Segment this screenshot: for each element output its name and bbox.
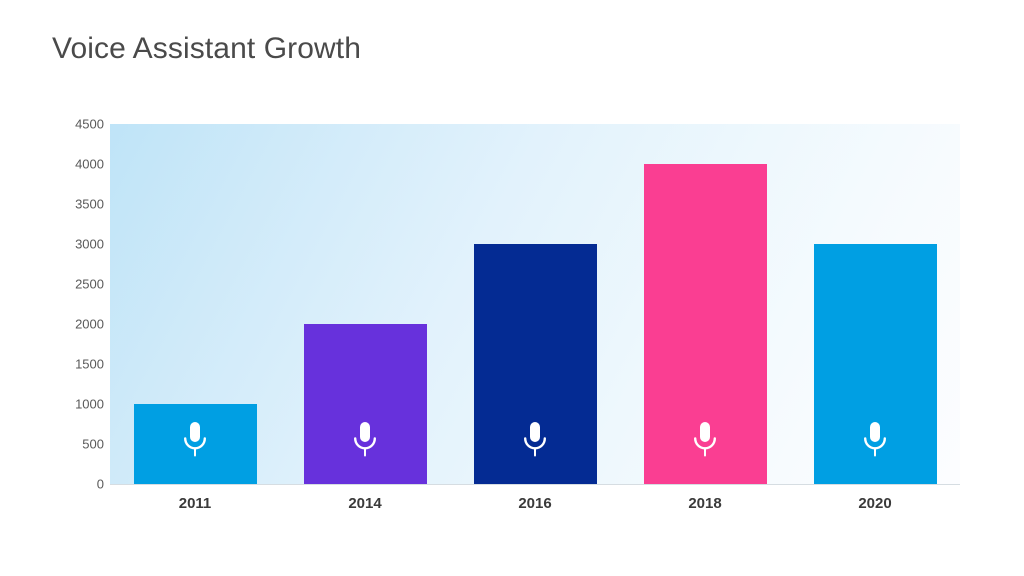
- y-axis-tick-label: 2000: [0, 317, 104, 332]
- y-axis-tick-label: 4500: [0, 117, 104, 132]
- bars-layer: [110, 124, 960, 484]
- bar-2018[interactable]: [644, 164, 767, 484]
- y-axis-tick-label: 4000: [0, 157, 104, 172]
- y-axis-tick-label: 2500: [0, 277, 104, 292]
- x-axis-tick-label-2018: 2018: [688, 495, 721, 512]
- x-axis-tick-label-2014: 2014: [348, 495, 381, 512]
- y-axis-tick-label: 500: [0, 437, 104, 452]
- bar-2011[interactable]: [134, 404, 257, 484]
- microphone-icon: [862, 420, 888, 464]
- bar-2020[interactable]: [814, 244, 937, 484]
- y-axis-tick-label: 3000: [0, 237, 104, 252]
- y-axis-tick-label: 1000: [0, 397, 104, 412]
- bar-2014[interactable]: [304, 324, 427, 484]
- y-axis-tick-label: 3500: [0, 197, 104, 212]
- microphone-icon: [692, 420, 718, 464]
- page-title: Voice Assistant Growth: [52, 32, 361, 66]
- bar-2016[interactable]: [474, 244, 597, 484]
- x-axis: 20112014201620182020: [110, 495, 960, 525]
- microphone-icon: [522, 420, 548, 464]
- y-axis-tick-label: 0: [0, 477, 104, 492]
- y-axis-tick-label: 1500: [0, 357, 104, 372]
- microphone-icon: [352, 420, 378, 464]
- microphone-icon: [182, 420, 208, 464]
- y-axis: 050010001500200025003000350040004500: [0, 124, 104, 484]
- x-axis-tick-label-2016: 2016: [518, 495, 551, 512]
- x-axis-tick-label-2011: 2011: [179, 495, 212, 512]
- x-axis-line: [110, 484, 960, 485]
- bar-chart-figure: Voice Assistant Growth 05001000150020002…: [0, 0, 1024, 576]
- x-axis-tick-label-2020: 2020: [858, 495, 891, 512]
